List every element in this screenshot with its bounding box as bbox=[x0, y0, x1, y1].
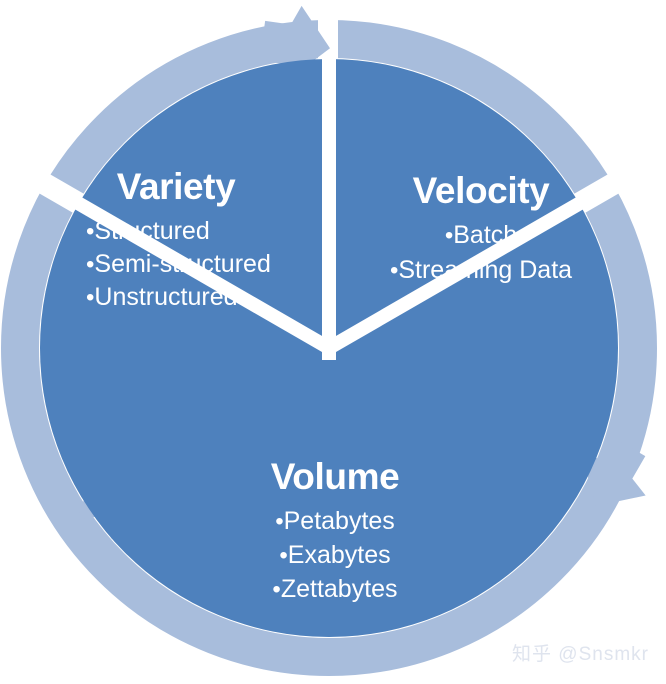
segment-velocity-title: Velocity bbox=[358, 172, 604, 211]
list-item: •Petabytes bbox=[215, 507, 455, 536]
list-item: •Zettabytes bbox=[215, 575, 455, 604]
list-item-label: Semi-structured bbox=[94, 250, 270, 278]
list-item: •Exabytes bbox=[215, 541, 455, 570]
segment-variety-title: Variety bbox=[60, 168, 292, 207]
watermark: 知乎 @Snsmkr bbox=[512, 639, 649, 666]
list-item-label: Exabytes bbox=[288, 541, 391, 569]
list-item-label: Unstructured bbox=[94, 283, 237, 311]
list-item-label: Petabytes bbox=[284, 507, 395, 535]
segment-velocity-list: •Batch •Streaming Data bbox=[358, 221, 604, 285]
segment-variety-list: •Structured •Semi-structured •Unstructur… bbox=[60, 217, 292, 312]
segment-variety: Variety •Structured •Semi-structured •Un… bbox=[60, 168, 292, 316]
segment-volume-title: Volume bbox=[215, 458, 455, 497]
list-item: •Semi-structured bbox=[86, 250, 292, 279]
segment-velocity: Velocity •Batch •Streaming Data bbox=[358, 172, 604, 291]
bullet-icon: • bbox=[272, 576, 280, 603]
cycle-diagram: Variety •Structured •Semi-structured •Un… bbox=[0, 0, 666, 684]
list-item-label: Batch bbox=[453, 221, 517, 249]
list-item-label: Structured bbox=[94, 217, 209, 245]
list-item: •Unstructured bbox=[86, 283, 292, 312]
segment-volume: Volume •Petabytes •Exabytes •Zettabytes bbox=[215, 458, 455, 609]
list-item-label: Streaming Data bbox=[398, 256, 572, 284]
list-item-label: Zettabytes bbox=[281, 575, 398, 603]
bullet-icon: • bbox=[275, 508, 283, 535]
list-item: •Streaming Data bbox=[358, 256, 604, 285]
bullet-icon: • bbox=[279, 542, 287, 569]
list-item: •Structured bbox=[86, 217, 292, 246]
list-item: •Batch bbox=[358, 221, 604, 250]
bullet-icon: • bbox=[445, 222, 453, 249]
segment-volume-list: •Petabytes •Exabytes •Zettabytes bbox=[215, 507, 455, 604]
